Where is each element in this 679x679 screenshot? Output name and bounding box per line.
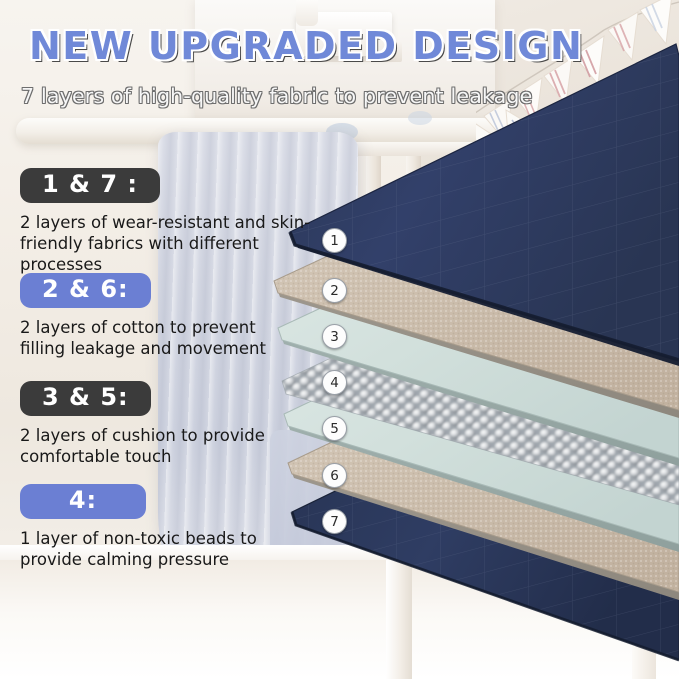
- feature-description-4: 1 layer of non-toxic beads to provide ca…: [20, 528, 257, 570]
- feature-label-1: 1 & 7 :: [20, 168, 160, 203]
- layer-badge-3[interactable]: 3: [322, 324, 347, 349]
- feature-block-4: 4: 1 layer of non-toxic beads to provide…: [20, 484, 257, 570]
- product-infographic: 1 2 3 4 5 6 7 NEW UPGRADED DESIGN 7 laye…: [0, 0, 679, 679]
- feature-description-3: 2 layers of cushion to provide comfortab…: [20, 425, 265, 467]
- page-subtitle: 7 layers of high-quality fabric to preve…: [21, 84, 532, 108]
- layer-badge-4-label: 4: [330, 375, 339, 391]
- layer-badge-7[interactable]: 7: [322, 509, 347, 534]
- feature-label-2: 2 & 6:: [20, 273, 151, 308]
- layer-badge-1[interactable]: 1: [322, 228, 347, 253]
- layer-badge-4[interactable]: 4: [322, 370, 347, 395]
- layer-badge-1-label: 1: [330, 233, 339, 249]
- layer-badge-6-label: 6: [330, 468, 339, 484]
- layer-badge-2-label: 2: [330, 283, 339, 299]
- crib-leg-left: [386, 560, 412, 679]
- layer-badge-6[interactable]: 6: [322, 463, 347, 488]
- layer-badge-7-label: 7: [330, 514, 339, 530]
- feature-block-2: 2 & 6: 2 layers of cotton to prevent fil…: [20, 273, 266, 359]
- feature-description-2: 2 layers of cotton to prevent filling le…: [20, 317, 266, 359]
- feature-description-1: 2 layers of wear-resistant and skin- fri…: [20, 212, 312, 275]
- crib-leg-right: [632, 560, 656, 679]
- layer-badge-5[interactable]: 5: [322, 416, 347, 441]
- feature-label-4: 4:: [20, 484, 146, 519]
- feature-label-3: 3 & 5:: [20, 381, 151, 416]
- feature-block-1: 1 & 7 : 2 layers of wear-resistant and s…: [20, 168, 312, 276]
- shelf-lamp: [296, 0, 318, 26]
- floor: [0, 560, 679, 679]
- layer-badge-2[interactable]: 2: [322, 278, 347, 303]
- feature-block-3: 3 & 5: 2 layers of cushion to provide co…: [20, 381, 265, 467]
- layer-badge-3-label: 3: [330, 329, 339, 345]
- page-title: NEW UPGRADED DESIGN: [29, 24, 583, 68]
- layer-badge-5-label: 5: [330, 421, 339, 437]
